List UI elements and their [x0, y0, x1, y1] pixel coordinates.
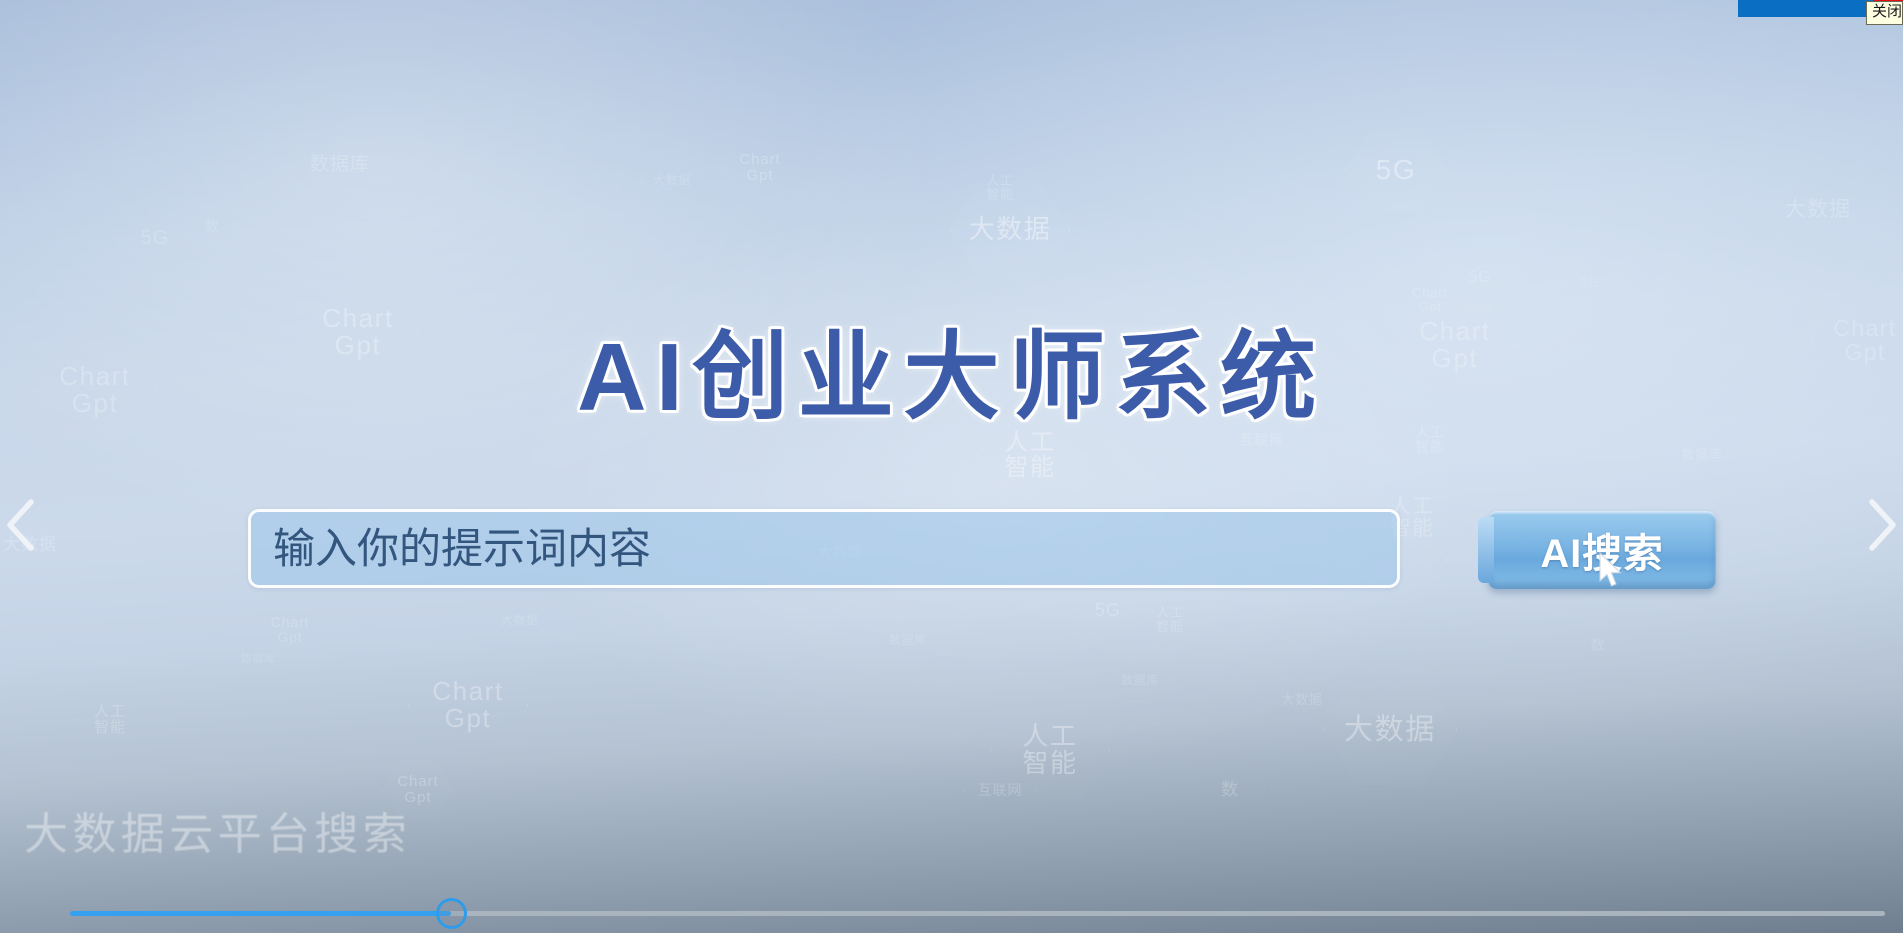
- hexagon-inner-outline: [1454, 256, 1506, 301]
- background-hexagon: 互联网: [963, 758, 1037, 822]
- hexagon-label: 5G: [136, 228, 173, 249]
- hexagon-inner-outline: [1352, 132, 1440, 208]
- background-hexagon: Chart Gpt: [722, 135, 799, 201]
- background-hexagon: 数: [1571, 622, 1624, 668]
- hexagon-inner-outline: [234, 639, 282, 680]
- close-tooltip: 关闭: [1866, 1, 1903, 25]
- hexagon-outline: [408, 653, 529, 757]
- hexagon-label: 数据库: [1117, 674, 1163, 687]
- background-hexagon: 数据库: [879, 615, 937, 665]
- hexagon-inner-outline: [292, 124, 388, 207]
- hexagon-label: 数: [1217, 781, 1243, 799]
- hexagon-inner-outline: [1774, 172, 1862, 248]
- background-hexagon: 数据库: [1110, 654, 1170, 706]
- background-hexagon: 数据库: [230, 636, 286, 684]
- hexagon-label: Chart Gpt: [267, 615, 313, 644]
- hexagon-label: 大数据: [1781, 199, 1856, 221]
- hexagon-label: 大数据: [649, 174, 695, 187]
- hexagon-label: 数据库: [1677, 448, 1726, 462]
- hexagon-label: Chart Gpt: [1408, 286, 1452, 313]
- hexagon-label: 5G: [1372, 155, 1421, 184]
- background-hexagon: 5G: [1562, 258, 1618, 306]
- carousel-prev-arrow-icon[interactable]: [0, 490, 46, 560]
- hexagon-label: 数据库: [237, 654, 280, 666]
- background-hexagon: 大数据: [1268, 671, 1335, 729]
- background-hexagon: 人工 智能: [965, 158, 1035, 218]
- hexagon-inner-outline: [1273, 675, 1331, 725]
- hexagon-inner-outline: [998, 705, 1102, 794]
- hexagon-label: 5G: [1464, 270, 1495, 287]
- hexagon-outline: [640, 152, 705, 208]
- hexagon-inner-outline: [1195, 760, 1265, 820]
- hexagon-outline: [1668, 426, 1735, 484]
- hexagon-outline: [990, 698, 1111, 802]
- carousel-next-arrow-icon[interactable]: [1857, 490, 1903, 560]
- hexagon-outline: [950, 178, 1071, 282]
- hexagon-outline: [965, 158, 1035, 218]
- hexagon-inner-outline: [727, 140, 793, 197]
- slider-handle[interactable]: [436, 898, 467, 929]
- hexagon-outline: [963, 758, 1037, 822]
- ai-search-button[interactable]: AI搜索: [1488, 511, 1716, 589]
- hexagon-outline: [72, 687, 149, 753]
- hexagon-outline: [1323, 672, 1458, 788]
- background-hexagon: 5G: [116, 204, 195, 272]
- background-hexagon: 大数据: [950, 178, 1071, 282]
- app-root: 数据库5G数Chart Gpt大数据Chart Gpt人工 智能大数据5G大数据…: [0, 0, 1903, 933]
- hexagon-inner-outline: [1566, 261, 1614, 302]
- hexagon-inner-outline: [416, 660, 520, 749]
- hexagon-inner-outline: [494, 598, 546, 643]
- hexagon-inner-outline: [1401, 275, 1459, 325]
- background-hexagon-field: 数据库5G数Chart Gpt大数据Chart Gpt人工 智能大数据5G大数据…: [0, 0, 1903, 933]
- hexagon-inner-outline: [190, 207, 234, 245]
- hexagon-label: 互联网: [974, 783, 1027, 798]
- hexagon-inner-outline: [1575, 625, 1621, 665]
- hexagon-outline: [254, 599, 326, 661]
- hexagon-outline: [722, 135, 799, 201]
- hexagon-label: Chart Gpt: [428, 678, 507, 733]
- background-hexagon: 数据库: [1668, 426, 1735, 484]
- hexagon-label: 数据库: [306, 155, 374, 175]
- hexagon-inner-outline: [1114, 658, 1166, 703]
- hexagon-inner-outline: [883, 619, 933, 662]
- hexagon-outline: [1571, 622, 1624, 668]
- background-hexagon: 人工 智能: [990, 698, 1111, 802]
- hexagon-outline: [186, 204, 237, 248]
- page-title: AI创业大师系统: [0, 330, 1903, 426]
- background-hexagon: 大数据: [640, 152, 705, 208]
- search-row: AI搜索: [0, 509, 1903, 595]
- slider-fill: [70, 911, 451, 916]
- hexagon-inner-outline: [1673, 430, 1731, 480]
- background-watermark-text: 大数据云平台搜索: [24, 798, 411, 862]
- hexagon-label: 5G: [1091, 601, 1125, 620]
- background-hexagon: 数: [1189, 755, 1270, 825]
- hexagon-outline: [284, 117, 395, 213]
- hexagon-label: 人工 智能: [90, 704, 130, 736]
- hexagon-outline: [1268, 671, 1335, 729]
- background-hexagon: 人工 智能: [1136, 591, 1203, 649]
- background-hexagon: 数: [186, 204, 237, 248]
- progress-slider[interactable]: [0, 891, 1903, 933]
- hexagon-outline: [1767, 166, 1869, 254]
- hexagon-outline: [230, 636, 286, 684]
- hexagon-outline: [1396, 271, 1463, 329]
- hexagon-outline: [1450, 252, 1510, 304]
- hexagon-label: 人工 智能: [1018, 723, 1081, 778]
- background-hexagon: 5G: [1345, 126, 1447, 214]
- background-hexagon: Chart Gpt: [1396, 271, 1463, 329]
- hexagon-outline: [1562, 258, 1618, 306]
- hexagon-inner-outline: [1332, 680, 1448, 780]
- background-hexagon: 大数据: [490, 594, 550, 646]
- taskbar-strip: [1738, 0, 1873, 17]
- hexagon-outline: [879, 615, 937, 665]
- hexagon-label: 数: [1587, 638, 1610, 653]
- prompt-input[interactable]: [248, 509, 1400, 588]
- hexagon-label: 人工 智能: [1152, 606, 1188, 633]
- hexagon-label: 人工 智能: [1411, 425, 1449, 454]
- hexagon-label: 大数据: [965, 216, 1056, 243]
- background-hexagon: 数据库: [284, 117, 395, 213]
- hexagon-label: 大数据: [497, 614, 543, 627]
- hexagon-label: 5G: [1576, 275, 1604, 290]
- hexagon-label: 大数据: [1340, 715, 1440, 745]
- hexagon-inner-outline: [970, 162, 1030, 214]
- hexagon-inner-outline: [968, 762, 1032, 817]
- background-hexagon: Chart Gpt: [408, 653, 529, 757]
- hexagon-inner-outline: [644, 156, 700, 204]
- hexagon-inner-outline: [259, 603, 321, 656]
- hexagon-label: 大数据: [1277, 693, 1326, 707]
- hexagon-outline: [490, 594, 550, 646]
- hexagon-inner-outline: [121, 209, 189, 268]
- hexagon-outline: [1136, 591, 1203, 649]
- hexagon-label: 人工 智能: [1001, 430, 1060, 480]
- hexagon-outline: [1345, 126, 1447, 214]
- background-hexagon: Chart Gpt: [254, 599, 326, 661]
- background-hexagon: 人工 智能: [72, 687, 149, 753]
- background-hexagon: 大数据: [1767, 166, 1869, 254]
- hexagon-inner-outline: [77, 692, 143, 749]
- hexagon-label: Chart Gpt: [735, 152, 784, 184]
- hexagon-inner-outline: [958, 185, 1062, 274]
- hexagon-outline: [1189, 755, 1270, 825]
- hexagon-outline: [1110, 654, 1170, 706]
- hexagon-outline: [116, 204, 195, 272]
- hexagon-label: 互联网: [1236, 433, 1289, 448]
- background-hexagon: 大数据: [1323, 672, 1458, 788]
- background-hexagon: 5G: [1450, 252, 1510, 304]
- hexagon-label: 数: [201, 219, 224, 234]
- hexagon-inner-outline: [1141, 595, 1199, 645]
- hexagon-label: 数据库: [885, 634, 931, 647]
- hexagon-label: 人工 智能: [982, 174, 1018, 201]
